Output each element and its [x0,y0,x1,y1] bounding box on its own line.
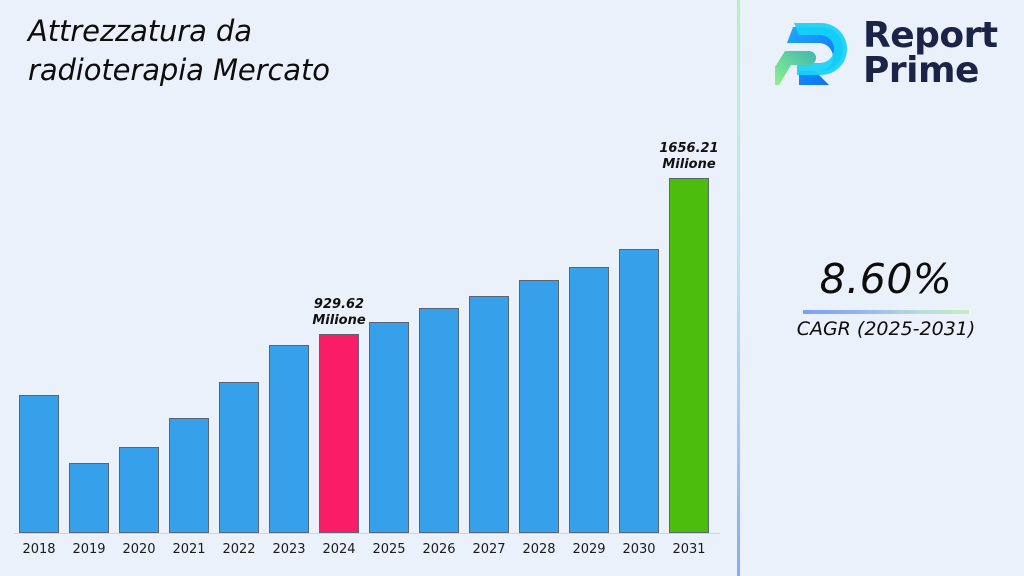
bar-rect-2030[interactable] [619,249,659,533]
x-axis-line [14,533,720,534]
bar-value-label-2024: 929.62 Milione [312,297,365,328]
brand-block: Report Prime [775,12,1005,96]
bar-rect-2028[interactable] [519,280,559,533]
bar-2018[interactable] [19,395,59,533]
x-tick-2021: 2021 [169,542,209,557]
panel-divider [737,0,740,576]
x-tick-2027: 2027 [469,542,509,557]
bar-rect-2027[interactable] [469,296,509,533]
x-tick-2024: 2024 [319,542,359,557]
cagr-divider [803,310,969,314]
x-tick-2028: 2028 [519,542,559,557]
cagr-caption: CAGR (2025-2031) [760,318,1012,340]
bar-rect-2029[interactable] [569,267,609,533]
x-tick-2020: 2020 [119,542,159,557]
bar-rect-2020[interactable] [119,447,159,533]
x-tick-2018: 2018 [19,542,59,557]
bar-rect-2025[interactable] [369,322,409,533]
x-tick-2030: 2030 [619,542,659,557]
x-tick-2022: 2022 [219,542,259,557]
bar-chart: 929.62 Milione1656.21 Milione 2018201920… [0,0,737,576]
bar-2028[interactable] [519,280,559,533]
x-tick-2026: 2026 [419,542,459,557]
bar-rect-2023[interactable] [269,345,309,533]
bar-rect-2031[interactable] [669,178,709,533]
bar-rect-2024[interactable] [319,334,359,533]
bar-2022[interactable] [219,382,259,533]
bar-2023[interactable] [269,345,309,533]
bar-rect-2018[interactable] [19,395,59,533]
bar-2020[interactable] [119,447,159,533]
cagr-value: 8.60% [760,255,1012,303]
bar-2030[interactable] [619,249,659,533]
bar-2031[interactable]: 1656.21 Milione [669,178,709,533]
bar-rect-2019[interactable] [69,463,109,533]
bar-value-label-2031: 1656.21 Milione [659,141,718,172]
x-tick-2031: 2031 [669,542,709,557]
bar-2026[interactable] [419,308,459,533]
bar-2027[interactable] [469,296,509,533]
bar-rect-2021[interactable] [169,418,209,533]
bar-2019[interactable] [69,463,109,533]
brand-wordmark: Report Prime [863,19,998,89]
bar-2024[interactable]: 929.62 Milione [319,334,359,533]
x-tick-2019: 2019 [69,542,109,557]
report-prime-logo-icon [775,17,851,91]
bar-rect-2026[interactable] [419,308,459,533]
bar-2021[interactable] [169,418,209,533]
chart-page: Attrezzatura da radioterapia Mercato 929… [0,0,1024,576]
x-tick-2025: 2025 [369,542,409,557]
bar-rect-2022[interactable] [219,382,259,533]
bar-2025[interactable] [369,322,409,533]
bar-2029[interactable] [569,267,609,533]
x-tick-2029: 2029 [569,542,609,557]
cagr-block: 8.60% CAGR (2025-2031) [760,255,1012,340]
x-tick-2023: 2023 [269,542,309,557]
